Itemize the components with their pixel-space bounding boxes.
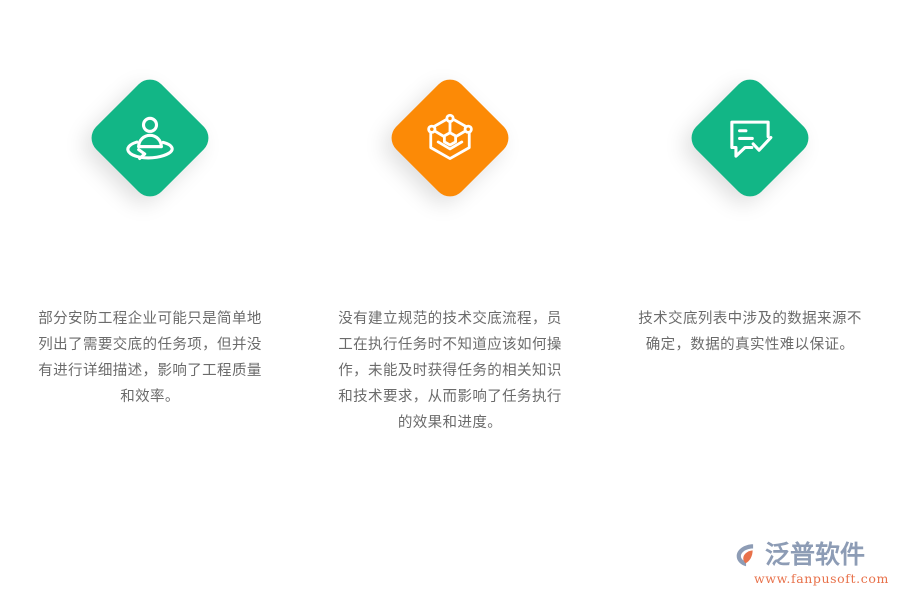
card-2: 没有建立规范的技术交底流程，员工在执行任务时不知道应该如何操作，未能及时获得任务… bbox=[300, 0, 600, 300]
card-3-text: 技术交底列表中涉及的数据来源不确定，数据的真实性难以保证。 bbox=[600, 306, 900, 358]
badge-slot-2 bbox=[300, 0, 600, 300]
badge-slot-3 bbox=[600, 0, 900, 300]
brand-logo-top: 泛普软件 bbox=[732, 540, 865, 570]
fanpu-logo-mark bbox=[732, 540, 762, 570]
card-2-text: 没有建立规范的技术交底流程，员工在执行任务时不知道应该如何操作，未能及时获得任务… bbox=[300, 306, 600, 436]
card-3: 技术交底列表中涉及的数据来源不确定，数据的真实性难以保证。 bbox=[600, 0, 900, 300]
badge-slot-1 bbox=[0, 0, 300, 300]
diamond-badge-3 bbox=[685, 73, 815, 203]
cards-row: 部分安防工程企业可能只是简单地列出了需要交底的任务项，但并没有进行详细描述，影响… bbox=[0, 0, 900, 300]
brand-logo: 泛普软件 www.fanpusoft.com bbox=[732, 540, 882, 586]
card-1-text: 部分安防工程企业可能只是简单地列出了需要交底的任务项，但并没有进行详细描述，影响… bbox=[0, 306, 300, 410]
brand-url: www.fanpusoft.com bbox=[754, 571, 889, 586]
diamond-badge-2 bbox=[385, 73, 515, 203]
diamond-badge-1 bbox=[85, 73, 215, 203]
card-1: 部分安防工程企业可能只是简单地列出了需要交底的任务项，但并没有进行详细描述，影响… bbox=[0, 0, 300, 300]
infographic-board: 部分安防工程企业可能只是简单地列出了需要交底的任务项，但并没有进行详细描述，影响… bbox=[0, 0, 900, 600]
brand-name: 泛普软件 bbox=[765, 540, 865, 570]
